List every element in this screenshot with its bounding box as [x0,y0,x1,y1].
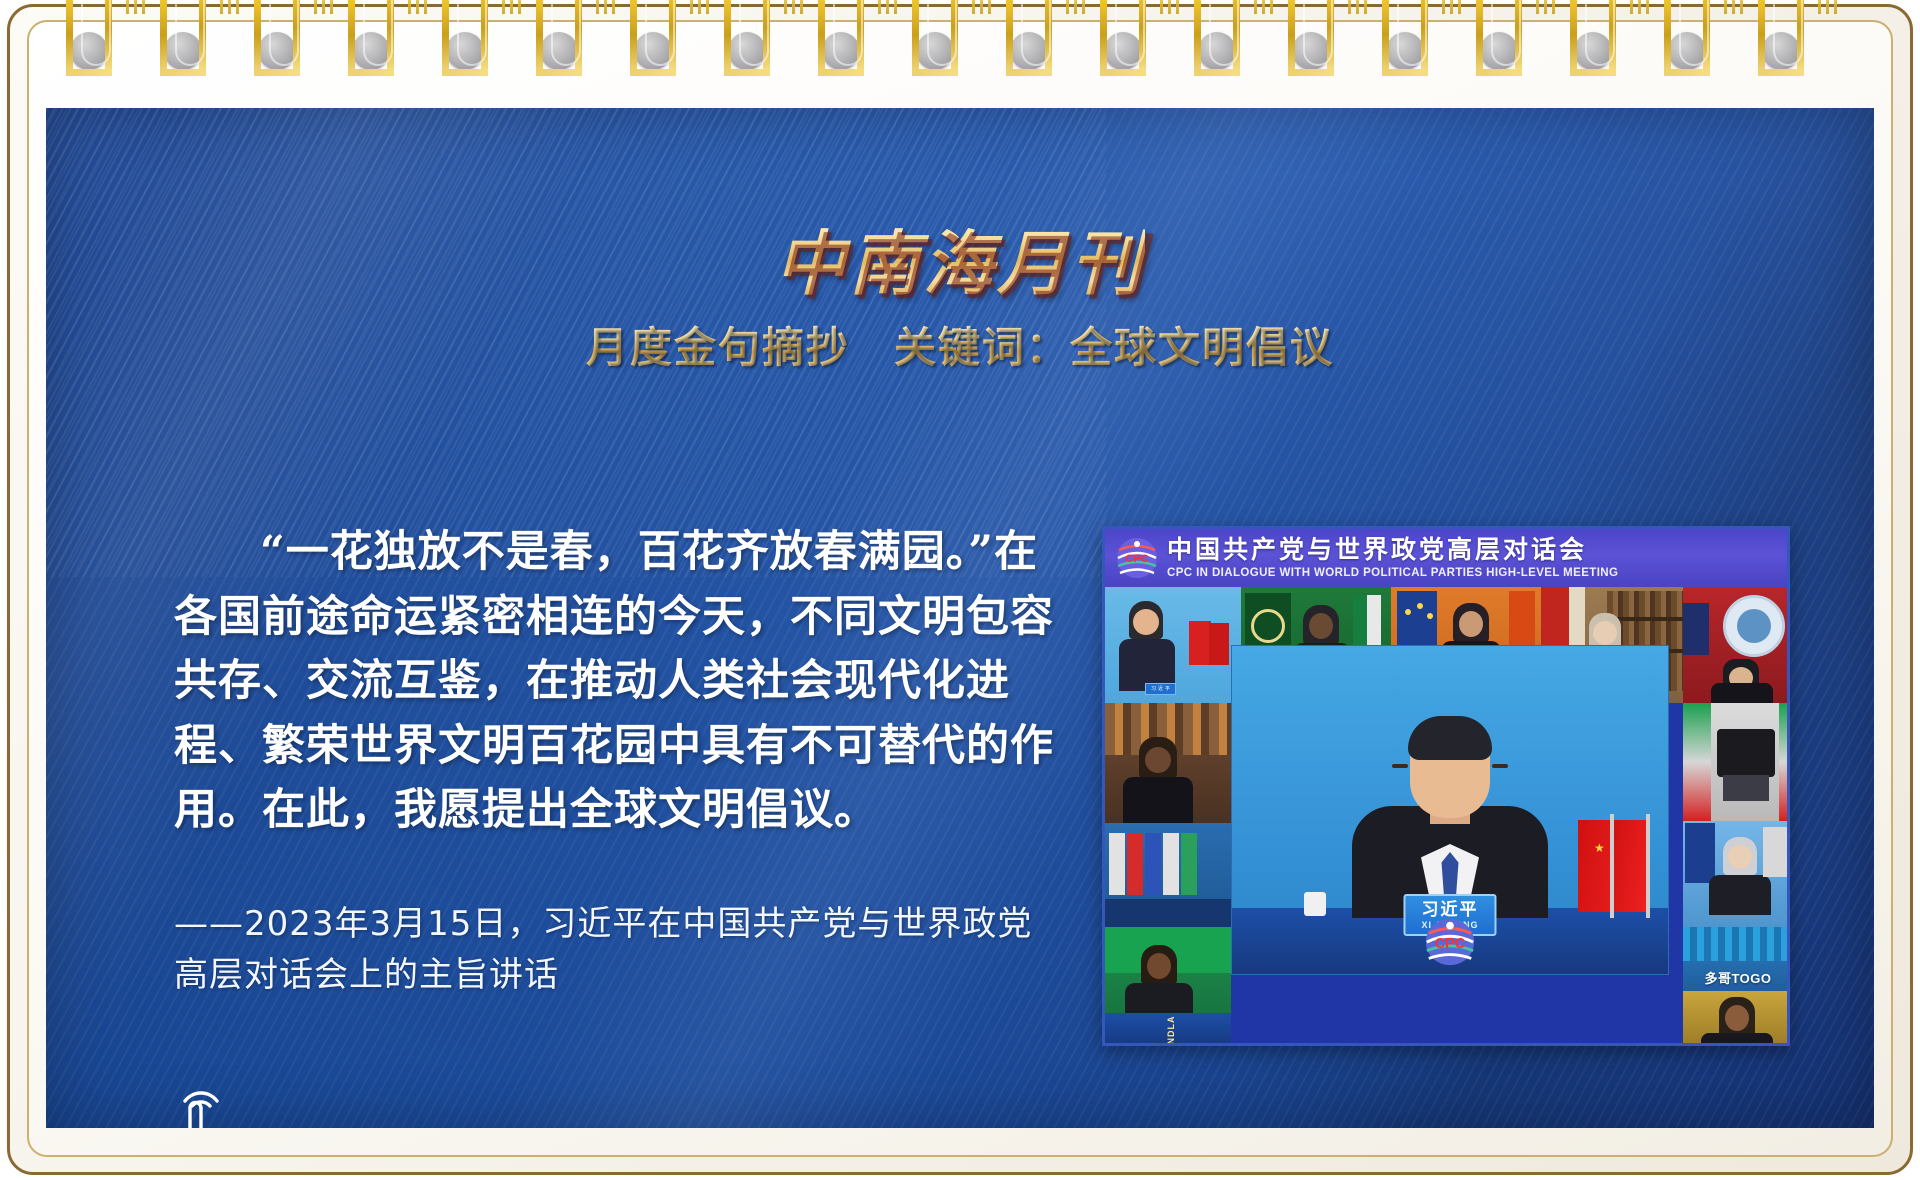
svg-text:CPC: CPC [1435,936,1466,952]
main-speaker-video: ★ 习近平 XI JINPING [1231,645,1669,975]
quote-column: “一花独放不是春，百花齐放春满园。”在各国前途命运紧密相连的今天，不同文明包容共… [174,520,1064,1001]
cpc-globe-icon: CPC [1115,536,1159,580]
meeting-photo: 习 近 平 Cyril Ramaphosa [1102,526,1790,1046]
participant-tile [1683,991,1790,1046]
subheading: 月度金句摘抄 关键词：全球文明倡议 [46,314,1874,375]
masthead: 中南海月刊 [46,208,1874,309]
participant-tile [1683,821,1790,927]
quote-attribution: ——2023年3月15日，习近平在中国共产党与世界政党高层对话会上的主旨讲话 [174,899,1064,1001]
participant-tile: 多哥TOGO [1683,927,1790,991]
participant-tile: 习 近 平 [1105,587,1241,703]
photo-banner: CPC 中国共产党与世界政党高层对话会 CPC IN DIALOGUE WITH… [1105,529,1787,587]
subheading-text: 月度金句摘抄 关键词：全球文明倡议 [586,314,1334,375]
page-title: 中南海月刊 [775,208,1145,309]
svg-text:CPC: CPC [1125,553,1148,565]
content-card: 中南海月刊 月度金句摘抄 关键词：全球文明倡议 “一花独放不是春，百花齐放春满园… [46,108,1874,1128]
participant-tile: AMANDLA [1105,927,1231,1046]
banner-title-cn: 中国共产党与世界政党高层对话会 [1167,537,1618,562]
togo-label: 多哥TOGO [1704,968,1771,987]
tap-hand-icon[interactable] [158,1070,250,1128]
banner-title-en: CPC IN DIALOGUE WITH WORLD POLITICAL PAR… [1167,568,1618,580]
participant-tile [1105,823,1231,927]
participant-tile [1683,587,1790,703]
quote-text: “一花独放不是春，百花齐放春满园。”在各国前途命运紧密相连的今天，不同文明包容共… [174,520,1064,843]
participant-tile [1105,703,1231,823]
notebook-page: 中南海月刊 月度金句摘抄 关键词：全球文明倡议 “一花独放不是春，百花齐放春满园… [0,0,1920,1180]
cpc-globe-icon: CPC [1421,916,1479,970]
participant-tile [1683,703,1790,821]
